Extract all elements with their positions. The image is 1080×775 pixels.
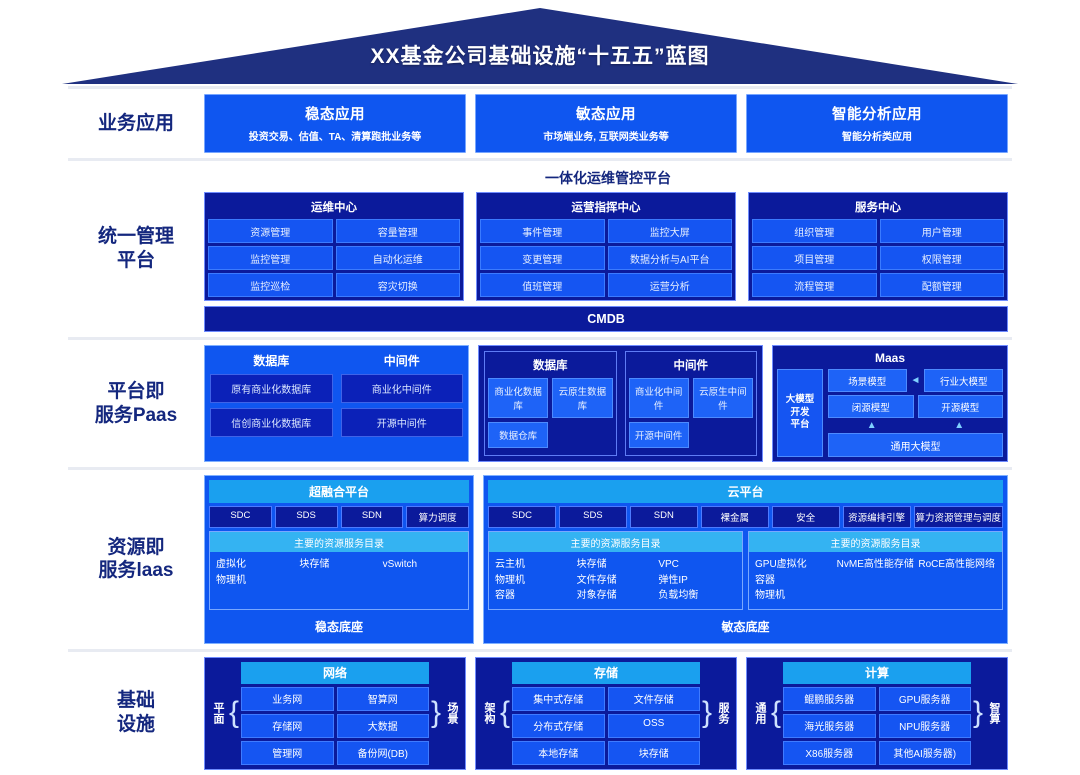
- infra-chip[interactable]: 其他AI服务器): [879, 741, 971, 765]
- business-app-cards: 稳态应用 投资交易、估值、TA、清算跑批业务等 敏态应用 市场端业务, 互联网类…: [204, 94, 1012, 153]
- infra-card-body: 网络 业务网 智算网 存储网 大数据 管理网 备份网(DB): [241, 662, 429, 765]
- maas-cell-scenario-model[interactable]: 场景模型: [828, 369, 907, 392]
- catalog-item: 物理机: [755, 588, 833, 604]
- center-chip-grid: 事件管理 监控大屏 变更管理 数据分析与AI平台 值班管理 运营分析: [480, 219, 732, 297]
- paas-blocks: 数据库 原有商业化数据库 信创商业化数据库 中间件 商业化中间件 开源中间件 数…: [204, 345, 1012, 462]
- tag-security[interactable]: 安全: [772, 506, 840, 528]
- infra-card-compute: 通用 { 计算 鲲鹏服务器 GPU服务器 海光服务器 NPU服务器 X86服务器…: [746, 657, 1008, 770]
- management-centers: 运维中心 资源管理 容量管理 监控管理 自动化运维 监控巡检 容灾切换 运营指挥…: [204, 192, 1012, 301]
- app-card-subtitle: 智能分析类应用: [751, 128, 1003, 143]
- catalog-item: GPU虚拟化: [755, 557, 833, 573]
- row-body-paas: 数据库 原有商业化数据库 信创商业化数据库 中间件 商业化中间件 开源中间件 数…: [204, 345, 1012, 462]
- resource-catalog-ai: 主要的资源服务目录 GPU虚拟化 容器 物理机 NvME高性能存储: [748, 531, 1003, 610]
- right-brace-icon: }: [702, 662, 712, 765]
- catalog-item: NvME高性能存储: [837, 557, 915, 573]
- tag-bare-metal[interactable]: 裸金属: [701, 506, 769, 528]
- cloud-platform-title: 云平台: [488, 480, 1003, 503]
- catalog-column: 云主机 物理机 容器: [495, 557, 573, 604]
- paas-item[interactable]: 信创商业化数据库: [210, 408, 333, 437]
- infra-chip[interactable]: 分布式存储: [512, 714, 604, 738]
- infra-chip[interactable]: 文件存储: [608, 687, 700, 711]
- hyperconverged-title: 超融合平台: [209, 480, 469, 503]
- paas-item[interactable]: 原有商业化数据库: [210, 374, 333, 403]
- paas-chip[interactable]: 云原生中间件: [693, 378, 753, 418]
- infra-chip[interactable]: 块存储: [608, 741, 700, 765]
- catalog-column: 虚拟化 物理机: [216, 557, 295, 604]
- catalog-item: VPC: [658, 557, 736, 573]
- paas-item[interactable]: 商业化中间件: [341, 374, 464, 403]
- row-iaas: 资源即 服务laas 超融合平台 SDC SDS SDN 算力调度: [68, 467, 1012, 649]
- tag-compute-scheduling[interactable]: 算力调度: [406, 506, 469, 528]
- app-card-title: 敏态应用: [480, 103, 732, 124]
- row-paas: 平台即 服务Paas 数据库 原有商业化数据库 信创商业化数据库 中间件 商业化…: [68, 337, 1012, 467]
- tag-sds[interactable]: SDS: [275, 506, 338, 528]
- resource-catalog: 主要的资源服务目录 虚拟化 物理机 块存储 vSwitc: [209, 531, 469, 610]
- page-title: XX基金公司基础设施“十五五”蓝图: [0, 40, 1080, 70]
- center-chip[interactable]: 自动化运维: [336, 246, 461, 270]
- infra-right-label: 场景: [443, 662, 461, 765]
- infra-chip-grid: 集中式存储 文件存储 分布式存储 OSS 本地存储 块存储: [512, 687, 700, 765]
- infra-left-label: 通用: [751, 662, 769, 765]
- center-chip[interactable]: 权限管理: [880, 246, 1005, 270]
- app-card-title: 智能分析应用: [751, 103, 1003, 124]
- paas-subblock-middleware: 中间件 商业化中间件 云原生中间件 开源中间件: [625, 351, 758, 456]
- app-card-title: 稳态应用: [209, 103, 461, 124]
- infra-card-body: 存储 集中式存储 文件存储 分布式存储 OSS 本地存储 块存储: [512, 662, 700, 765]
- paas-subblock-database: 数据库 商业化数据库 云原生数据库 数据仓库: [484, 351, 617, 456]
- row-label-line1: 统一管理: [98, 225, 174, 249]
- maas-cell-open-source-model[interactable]: 开源模型: [918, 395, 1004, 418]
- infrastructure-cards: 平面 { 网络 业务网 智算网 存储网 大数据 管理网 备份网(DB): [204, 657, 1012, 770]
- left-arrow-icon: ◄: [911, 376, 921, 386]
- cloud-platform-tags: SDC SDS SDN 裸金属 安全 资源编排引擎 算力资源管理与调度: [488, 506, 1003, 528]
- tag-sdc[interactable]: SDC: [209, 506, 272, 528]
- resource-catalog-body: 云主机 物理机 容器 块存储 文件存储 对象存储: [489, 552, 742, 609]
- infra-chip[interactable]: 存储网: [241, 714, 333, 738]
- row-label-iaas: 资源即 服务laas: [68, 475, 204, 644]
- maas-title: Maas: [777, 350, 1003, 369]
- row-label-line2: 平台: [98, 249, 174, 273]
- title-banner: XX基金公司基础设施“十五五”蓝图: [0, 0, 1080, 86]
- maas-up-arrows: ▲ ▲: [828, 421, 1003, 430]
- maas-model-stack: 场景模型 ◄ 行业大模型 闭源模型 开源模型 ▲ ▲: [828, 369, 1003, 457]
- catalog-item: RoCE高性能网络: [918, 557, 996, 573]
- resource-catalog-title: 主要的资源服务目录: [489, 532, 742, 552]
- paas-chip[interactable]: 商业化数据库: [488, 378, 548, 418]
- infra-right-label: 服务: [714, 662, 732, 765]
- catalog-item: 对象存储: [577, 588, 655, 604]
- catalog-item: 文件存储: [577, 573, 655, 589]
- right-brace-icon: }: [973, 662, 983, 765]
- infra-chip[interactable]: 智算网: [337, 687, 429, 711]
- center-title: 服务中心: [752, 196, 1004, 219]
- row-body-business: 稳态应用 投资交易、估值、TA、清算跑批业务等 敏态应用 市场端业务, 互联网类…: [204, 94, 1012, 153]
- infra-chip[interactable]: X86服务器: [783, 741, 875, 765]
- center-ops[interactable]: 运维中心 资源管理 容量管理 监控管理 自动化运维 监控巡检 容灾切换: [204, 192, 464, 301]
- left-brace-icon: {: [229, 662, 239, 765]
- resource-catalog-title: 主要的资源服务目录: [210, 532, 468, 552]
- infra-chip[interactable]: 集中式存储: [512, 687, 604, 711]
- paas-item[interactable]: 开源中间件: [341, 408, 464, 437]
- catalog-item: 虚拟化: [216, 557, 295, 573]
- paas-column-database-legacy: 数据库 原有商业化数据库 信创商业化数据库: [210, 351, 333, 456]
- catalog-column: VPC 弹性IP 负载均衡: [658, 557, 736, 604]
- row-label-line2: 服务Paas: [95, 404, 177, 428]
- center-chip[interactable]: 变更管理: [480, 246, 605, 270]
- left-brace-icon: {: [500, 662, 510, 765]
- center-service[interactable]: 服务中心 组织管理 用户管理 项目管理 权限管理 流程管理 配额管理: [748, 192, 1008, 301]
- row-unified-management: 统一管理 平台 一体化运维管控平台 运维中心 资源管理 容量管理 监控管理 自动…: [68, 158, 1012, 337]
- infra-chip[interactable]: 大数据: [337, 714, 429, 738]
- catalog-column: vSwitch: [383, 557, 462, 604]
- catalog-column: 块存储: [299, 557, 378, 604]
- row-body-infrastructure: 平面 { 网络 业务网 智算网 存储网 大数据 管理网 备份网(DB): [204, 657, 1012, 770]
- center-chip-grid: 组织管理 用户管理 项目管理 权限管理 流程管理 配额管理: [752, 219, 1004, 297]
- blueprint-rows: 业务应用 稳态应用 投资交易、估值、TA、清算跑批业务等 敏态应用 市场端业务,…: [0, 86, 1080, 775]
- left-brace-icon: {: [771, 662, 781, 765]
- center-chip[interactable]: 流程管理: [752, 273, 877, 297]
- center-chip[interactable]: 事件管理: [480, 219, 605, 243]
- center-chip[interactable]: 组织管理: [752, 219, 877, 243]
- paas-subblock-title: 中间件: [629, 355, 754, 378]
- center-chip[interactable]: 用户管理: [880, 219, 1005, 243]
- center-title: 运维中心: [208, 196, 460, 219]
- catalog-column: GPU虚拟化 容器 物理机: [755, 557, 833, 604]
- paas-cloudnative-block: 数据库 商业化数据库 云原生数据库 数据仓库 中间件 商业化中间件 云原生中间件: [478, 345, 763, 462]
- tag-sds[interactable]: SDS: [559, 506, 627, 528]
- infra-chip[interactable]: OSS: [608, 714, 700, 738]
- tag-sdc[interactable]: SDC: [488, 506, 556, 528]
- infra-left-label: 平面: [209, 662, 227, 765]
- maas-row-scenario: 场景模型 ◄ 行业大模型: [828, 369, 1003, 392]
- stable-base-bar: 稳态底座: [209, 614, 469, 639]
- tag-orchestration-engine[interactable]: 资源编排引擎: [843, 506, 911, 528]
- resource-catalog-general: 主要的资源服务目录 云主机 物理机 容器 块存储 文件存储: [488, 531, 743, 610]
- maas-cell-closed-source-model[interactable]: 闭源模型: [828, 395, 914, 418]
- infra-card-title: 存储: [512, 662, 700, 684]
- row-body-iaas: 超融合平台 SDC SDS SDN 算力调度 主要的资源服务目录 虚拟化: [204, 475, 1012, 644]
- infra-chip[interactable]: GPU服务器: [879, 687, 971, 711]
- infra-chip[interactable]: 管理网: [241, 741, 333, 765]
- cloud-platform: 云平台 SDC SDS SDN 裸金属 安全 资源编排引擎 算力资源管理与调度 …: [483, 475, 1008, 644]
- center-title: 运营指挥中心: [480, 196, 732, 219]
- paas-subblock-grid: 商业化中间件 云原生中间件 开源中间件: [629, 378, 754, 448]
- llm-dev-platform[interactable]: 大模型 开发 平台: [777, 369, 823, 457]
- maas-row-source: 闭源模型 开源模型: [828, 395, 1003, 418]
- catalog-item: 云主机: [495, 557, 573, 573]
- row-label-line1: 资源即: [99, 536, 174, 560]
- center-chip[interactable]: 数据分析与AI平台: [608, 246, 733, 270]
- catalog-item: 块存储: [577, 557, 655, 573]
- infra-card-network: 平面 { 网络 业务网 智算网 存储网 大数据 管理网 备份网(DB): [204, 657, 466, 770]
- row-label-line2: 设施: [117, 713, 155, 737]
- infra-card-body: 计算 鲲鹏服务器 GPU服务器 海光服务器 NPU服务器 X86服务器 其他AI…: [783, 662, 971, 765]
- iaas-blocks: 超融合平台 SDC SDS SDN 算力调度 主要的资源服务目录 虚拟化: [204, 475, 1012, 644]
- center-chip[interactable]: 值班管理: [480, 273, 605, 297]
- catalog-column: NvME高性能存储: [837, 557, 915, 604]
- catalog-item: 容器: [755, 573, 833, 589]
- infra-chip[interactable]: 海光服务器: [783, 714, 875, 738]
- infra-left-label: 架构: [480, 662, 498, 765]
- paas-chip[interactable]: 开源中间件: [629, 422, 689, 448]
- resource-catalog-title: 主要的资源服务目录: [749, 532, 1002, 552]
- infra-card-storage: 架构 { 存储 集中式存储 文件存储 分布式存储 OSS 本地存储 块存储: [475, 657, 737, 770]
- center-chip[interactable]: 运营分析: [608, 273, 733, 297]
- hyperconverged-catalog-row: 主要的资源服务目录 虚拟化 物理机 块存储 vSwitc: [209, 531, 469, 610]
- center-chip-grid: 资源管理 容量管理 监控管理 自动化运维 监控巡检 容灾切换: [208, 219, 460, 297]
- right-brace-icon: }: [431, 662, 441, 765]
- app-card-subtitle: 投资交易、估值、TA、清算跑批业务等: [209, 128, 461, 143]
- row-business-application: 业务应用 稳态应用 投资交易、估值、TA、清算跑批业务等 敏态应用 市场端业务,…: [68, 86, 1012, 158]
- tag-compute-resource-mgmt[interactable]: 算力资源管理与调度: [914, 506, 1004, 528]
- integrated-ops-platform-title: 一体化运维管控平台: [204, 166, 1012, 192]
- app-card-intelligent-analysis[interactable]: 智能分析应用 智能分析类应用: [746, 94, 1008, 153]
- catalog-item: vSwitch: [383, 557, 462, 573]
- center-chip[interactable]: 配额管理: [880, 273, 1005, 297]
- catalog-item: 物理机: [216, 573, 295, 589]
- center-chip[interactable]: 容灾切换: [336, 273, 461, 297]
- agile-base-bar: 敏态底座: [488, 614, 1003, 639]
- infra-chip[interactable]: NPU服务器: [879, 714, 971, 738]
- paas-column-middleware-legacy: 中间件 商业化中间件 开源中间件: [341, 351, 464, 456]
- llm-dev-platform-line3: 平台: [786, 419, 815, 432]
- center-chip[interactable]: 容量管理: [336, 219, 461, 243]
- tag-sdn[interactable]: SDN: [341, 506, 404, 528]
- center-chip[interactable]: 项目管理: [752, 246, 877, 270]
- paas-chip[interactable]: 云原生数据库: [552, 378, 612, 418]
- row-label-line1: 平台即: [95, 380, 177, 404]
- catalog-item: 负载均衡: [658, 588, 736, 604]
- paas-chip-placeholder: [552, 422, 612, 448]
- infra-chip[interactable]: 备份网(DB): [337, 741, 429, 765]
- cmdb-bar[interactable]: CMDB: [204, 306, 1008, 332]
- catalog-item: 块存储: [299, 557, 378, 573]
- maas-block: Maas 大模型 开发 平台 场景模型 ◄: [772, 345, 1008, 462]
- maas-body: 大模型 开发 平台 场景模型 ◄ 行业大模型: [777, 369, 1003, 457]
- app-card-agile[interactable]: 敏态应用 市场端业务, 互联网类业务等: [475, 94, 737, 153]
- up-arrow-icon: ▲: [954, 421, 964, 431]
- hyperconverged-tags: SDC SDS SDN 算力调度: [209, 506, 469, 528]
- infra-chip-grid: 业务网 智算网 存储网 大数据 管理网 备份网(DB): [241, 687, 429, 765]
- infra-chip[interactable]: 鲲鹏服务器: [783, 687, 875, 711]
- paas-chip[interactable]: 商业化中间件: [629, 378, 689, 418]
- paas-legacy-block: 数据库 原有商业化数据库 信创商业化数据库 中间件 商业化中间件 开源中间件: [204, 345, 469, 462]
- row-label-management: 统一管理 平台: [68, 166, 204, 332]
- catalog-item: 弹性IP: [658, 573, 736, 589]
- up-arrow-icon: ▲: [867, 421, 877, 431]
- resource-catalog-body: GPU虚拟化 容器 物理机 NvME高性能存储 RoCE高性能网络: [749, 552, 1002, 609]
- center-chip[interactable]: 资源管理: [208, 219, 333, 243]
- row-label-business: 业务应用: [68, 94, 204, 153]
- app-card-stable[interactable]: 稳态应用 投资交易、估值、TA、清算跑批业务等: [204, 94, 466, 153]
- infra-chip[interactable]: 业务网: [241, 687, 333, 711]
- hyperconverged-platform: 超融合平台 SDC SDS SDN 算力调度 主要的资源服务目录 虚拟化: [204, 475, 474, 644]
- catalog-item: 容器: [495, 588, 573, 604]
- resource-catalog-body: 虚拟化 物理机 块存储 vSwitch: [210, 552, 468, 609]
- llm-dev-platform-line2: 开发: [786, 407, 815, 420]
- row-label-line1: 基础: [117, 689, 155, 713]
- row-infrastructure: 基础 设施 平面 { 网络 业务网 智算网 存储网 大数据 管理: [68, 649, 1012, 775]
- paas-chip-placeholder: [693, 422, 753, 448]
- infra-chip[interactable]: 本地存储: [512, 741, 604, 765]
- tag-sdn[interactable]: SDN: [630, 506, 698, 528]
- center-operation-command[interactable]: 运营指挥中心 事件管理 监控大屏 变更管理 数据分析与AI平台 值班管理 运营分…: [476, 192, 736, 301]
- row-body-management: 一体化运维管控平台 运维中心 资源管理 容量管理 监控管理 自动化运维 监控巡检…: [204, 166, 1012, 332]
- paas-column-title: 数据库: [210, 351, 333, 374]
- llm-dev-platform-line1: 大模型: [786, 394, 815, 407]
- paas-column-title: 中间件: [341, 351, 464, 374]
- paas-subblock-title: 数据库: [488, 355, 613, 378]
- center-chip[interactable]: 监控大屏: [608, 219, 733, 243]
- row-label-paas: 平台即 服务Paas: [68, 345, 204, 462]
- catalog-column: 块存储 文件存储 对象存储: [577, 557, 655, 604]
- cloud-catalog-row: 主要的资源服务目录 云主机 物理机 容器 块存储 文件存储: [488, 531, 1003, 610]
- center-chip[interactable]: 监控管理: [208, 246, 333, 270]
- catalog-column: RoCE高性能网络: [918, 557, 996, 604]
- row-label-infrastructure: 基础 设施: [68, 657, 204, 770]
- maas-cell-industry-model[interactable]: 行业大模型: [924, 369, 1003, 392]
- app-card-subtitle: 市场端业务, 互联网类业务等: [480, 128, 732, 143]
- catalog-item: 物理机: [495, 573, 573, 589]
- paas-subblock-grid: 商业化数据库 云原生数据库 数据仓库: [488, 378, 613, 448]
- infra-chip-grid: 鲲鹏服务器 GPU服务器 海光服务器 NPU服务器 X86服务器 其他AI服务器…: [783, 687, 971, 765]
- infra-right-label: 智算: [985, 662, 1003, 765]
- maas-cell-general-model[interactable]: 通用大模型: [828, 433, 1003, 457]
- infra-card-title: 计算: [783, 662, 971, 684]
- paas-chip[interactable]: 数据仓库: [488, 422, 548, 448]
- center-chip[interactable]: 监控巡检: [208, 273, 333, 297]
- infra-card-title: 网络: [241, 662, 429, 684]
- row-label-line2: 服务laas: [99, 559, 174, 583]
